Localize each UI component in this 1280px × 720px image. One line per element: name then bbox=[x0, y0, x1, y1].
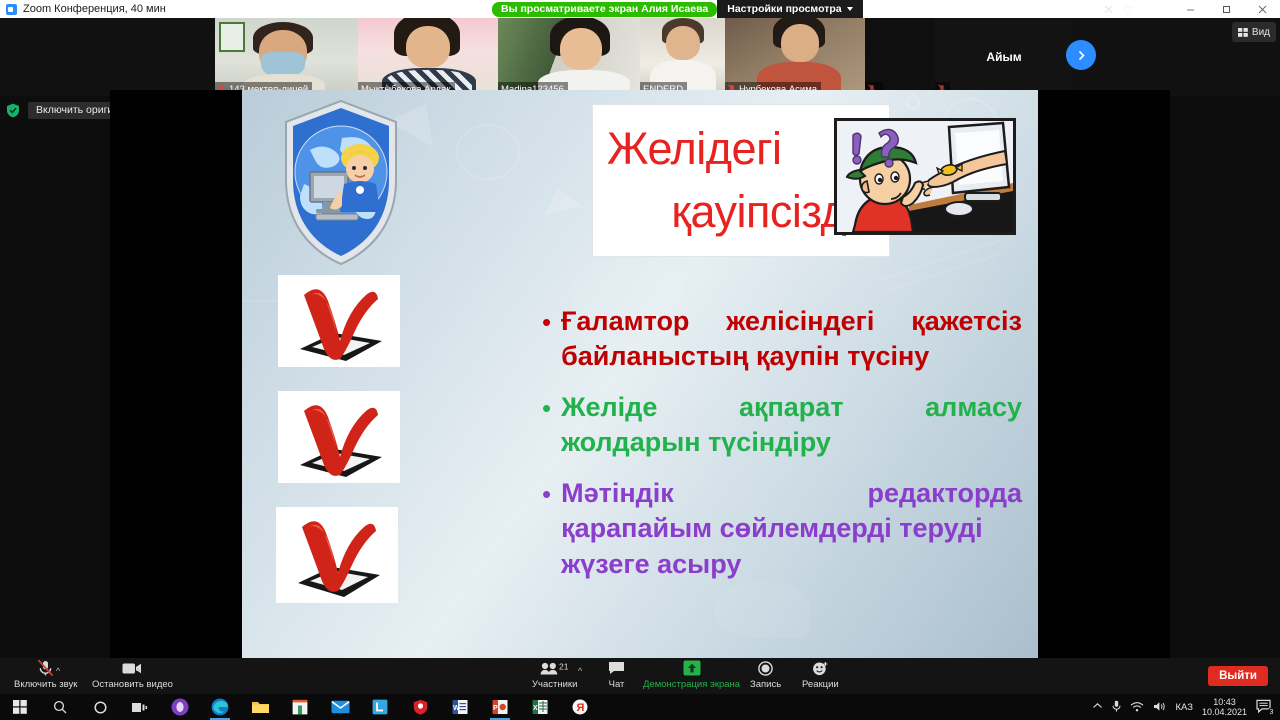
people-icon: 21 bbox=[540, 660, 570, 676]
chevron-up-icon[interactable] bbox=[1092, 702, 1103, 712]
bullet-item: • Мәтіндік редакторда қарапайым сөйлемде… bbox=[542, 476, 1022, 581]
record-button[interactable]: Запись bbox=[750, 660, 781, 690]
participant-thumbnail[interactable]: Мықтыбекова Ардақ bbox=[358, 18, 498, 96]
bullet-1-line-2: байланыстың қаупін түсіну bbox=[561, 339, 1022, 374]
bullet-1-word-2: желісіндегі bbox=[726, 304, 874, 339]
window-controls bbox=[1172, 0, 1280, 18]
system-tray: КАЗ 10:43 10.04.2021 3 bbox=[1092, 694, 1280, 720]
red-checkmark-image bbox=[278, 391, 400, 483]
chat-label: Чат bbox=[609, 679, 625, 690]
bullet-dot-icon: • bbox=[542, 304, 551, 340]
shield-globe-boy-image bbox=[280, 98, 402, 268]
microphone-icon[interactable] bbox=[1112, 700, 1121, 715]
leave-meeting-button[interactable]: Выйти bbox=[1208, 666, 1268, 686]
windows-taskbar: W P X bbox=[0, 694, 1280, 720]
bullet-3-line-2: қарапайым сөйлемдерді теруді bbox=[561, 511, 1022, 546]
bullet-2-line-2: жолдарын түсіндіру bbox=[561, 425, 1022, 460]
share-screen-icon bbox=[683, 660, 701, 676]
yandex-icon[interactable]: Я bbox=[560, 694, 600, 720]
unmute-button[interactable]: Включить звук bbox=[14, 660, 77, 690]
grid-icon bbox=[1238, 28, 1248, 37]
view-options-label: Настройки просмотра bbox=[727, 0, 841, 18]
cortana-icon[interactable] bbox=[80, 694, 120, 720]
bullet-3-line-3: жүзеге асыру bbox=[561, 547, 1022, 582]
bullet-dot-icon: • bbox=[542, 390, 551, 426]
word-icon[interactable]: W bbox=[440, 694, 480, 720]
participants-label: Участники bbox=[532, 679, 577, 690]
view-options-button[interactable]: Настройки просмотра bbox=[717, 0, 862, 18]
antivirus-shield-icon[interactable] bbox=[400, 694, 440, 720]
record-circle-icon bbox=[758, 660, 773, 676]
search-icon[interactable] bbox=[40, 694, 80, 720]
keyboard-language-indicator[interactable]: КАЗ bbox=[1175, 702, 1193, 713]
reactions-label: Реакции bbox=[802, 679, 839, 690]
bullet-1-word-3: қажетсіз bbox=[911, 304, 1022, 339]
bullet-2-word-2: ақпарат bbox=[739, 390, 844, 425]
bullet-3-word-1: Мәтіндік bbox=[561, 476, 674, 511]
minimize-icon[interactable] bbox=[1172, 0, 1208, 18]
bullet-2-word-3: алмасу bbox=[925, 390, 1022, 425]
microphone-muted-icon bbox=[37, 660, 54, 676]
share-banner: Вы просматриваете экран Алия Исаева Наст… bbox=[492, 0, 863, 18]
view-mode-label: Вид bbox=[1252, 27, 1270, 38]
bullet-2-word-1: Желіде bbox=[561, 390, 657, 425]
boy-candy-monitor-image bbox=[834, 118, 1016, 235]
share-screen-label: Демонстрация экрана bbox=[643, 679, 740, 690]
app-purple-drop-icon[interactable] bbox=[160, 694, 200, 720]
meeting-toolbar: Включить звук ^ Остановить видео ^ 21 bbox=[0, 658, 1280, 694]
reactions-button[interactable]: Реакции bbox=[802, 660, 839, 690]
participant-thumbnail[interactable]: 143 мектеп-лицей bbox=[215, 18, 358, 96]
presentation-slide: Желідегі қауіпсіздік bbox=[242, 90, 1038, 658]
edge-icon[interactable] bbox=[200, 694, 240, 720]
wifi-icon[interactable] bbox=[1130, 701, 1144, 714]
shield-check-icon bbox=[6, 103, 20, 118]
video-options-chevron-icon[interactable]: ^ bbox=[136, 666, 140, 676]
audio-options-chevron-icon[interactable]: ^ bbox=[56, 666, 60, 676]
record-label: Запись bbox=[750, 679, 781, 690]
clock-time: 10:43 bbox=[1202, 697, 1247, 707]
share-screen-button[interactable]: Демонстрация экрана bbox=[643, 660, 740, 690]
window-title: Zoom Конференция, 40 мин bbox=[23, 3, 166, 15]
heart-icon: ♡ bbox=[1123, 4, 1134, 18]
participants-options-chevron-icon[interactable]: ^ bbox=[578, 666, 582, 676]
notification-count: 3 bbox=[1267, 708, 1276, 717]
next-participants-button[interactable] bbox=[1066, 40, 1096, 70]
taskbar-clock[interactable]: 10:43 10.04.2021 bbox=[1202, 697, 1247, 718]
svg-text:21: 21 bbox=[559, 662, 569, 672]
maximize-icon[interactable] bbox=[1208, 0, 1244, 18]
app-blue-l-icon[interactable] bbox=[360, 694, 400, 720]
speaker-icon[interactable] bbox=[1153, 701, 1166, 714]
close-share-icon[interactable]: ✕ bbox=[1103, 2, 1114, 18]
participant-thumbnail[interactable]: Madina123456 bbox=[498, 18, 640, 96]
bullet-1-word-1: Ғаламтор bbox=[561, 304, 689, 339]
svg-text:W: W bbox=[453, 705, 460, 712]
microsoft-store-icon[interactable] bbox=[280, 694, 320, 720]
participant-thumbnail[interactable]: Нурбекова Асима bbox=[725, 18, 865, 96]
clock-date: 10.04.2021 bbox=[1202, 707, 1247, 717]
bullet-dot-icon: • bbox=[542, 476, 551, 512]
powerpoint-icon[interactable]: P bbox=[480, 694, 520, 720]
red-checkmark-image bbox=[276, 507, 398, 603]
thumbnail-name: Айым bbox=[986, 50, 1021, 64]
unmute-label: Включить звук bbox=[14, 679, 77, 690]
svg-text:Я: Я bbox=[577, 702, 585, 714]
stop-video-button[interactable]: Остановить видео bbox=[92, 660, 173, 690]
participant-thumbnail[interactable]: ENDERD bbox=[640, 18, 725, 96]
task-view-icon[interactable] bbox=[120, 694, 160, 720]
windows-start-icon[interactable] bbox=[0, 694, 40, 720]
red-checkmark-image bbox=[278, 275, 400, 367]
participant-thumbnail[interactable] bbox=[865, 18, 935, 96]
svg-text:X: X bbox=[533, 705, 538, 712]
file-explorer-icon[interactable] bbox=[240, 694, 280, 720]
participants-button[interactable]: 21 Участники bbox=[532, 660, 577, 690]
zoom-meeting-window: Zoom Конференция, 40 мин Вы просматривае… bbox=[0, 0, 1280, 720]
chat-button[interactable]: Чат bbox=[608, 660, 625, 690]
participant-thumbnail[interactable]: Айым bbox=[935, 18, 1073, 96]
chat-bubble-icon bbox=[608, 660, 625, 676]
close-icon[interactable] bbox=[1244, 0, 1280, 18]
bullet-item: • Желіде ақпарат алмасу жолдарын түсінді… bbox=[542, 390, 1022, 460]
svg-text:P: P bbox=[493, 705, 498, 712]
slide-bullet-list: • Ғаламтор желісіндегі қажетсіз байланыс… bbox=[542, 304, 1022, 598]
notification-icon[interactable]: 3 bbox=[1256, 699, 1274, 715]
excel-icon[interactable]: X bbox=[520, 694, 560, 720]
chevron-down-icon bbox=[847, 7, 853, 11]
stop-video-label: Остановить видео bbox=[92, 679, 173, 690]
bullet-item: • Ғаламтор желісіндегі қажетсіз байланыс… bbox=[542, 304, 1022, 374]
mail-icon[interactable] bbox=[320, 694, 360, 720]
view-mode-button[interactable]: Вид bbox=[1232, 22, 1276, 42]
zoom-icon bbox=[6, 4, 17, 15]
bullet-3-word-3: редакторда bbox=[867, 476, 1022, 511]
viewing-screen-label: Вы просматриваете экран Алия Исаева bbox=[492, 2, 717, 17]
smiley-icon bbox=[812, 660, 829, 676]
chevron-right-icon bbox=[1075, 49, 1088, 62]
shared-screen-area: Желідегі қауіпсіздік bbox=[110, 90, 1170, 658]
